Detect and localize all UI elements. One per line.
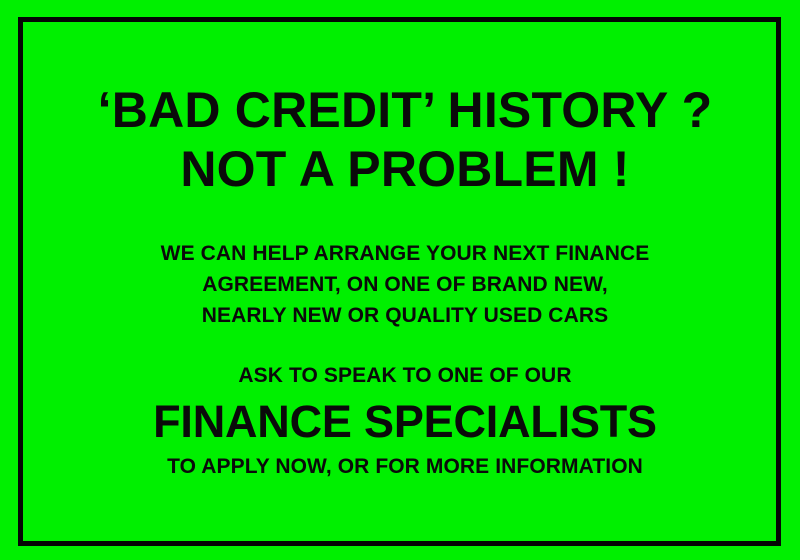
poster-content: ‘BAD CREDIT’ HISTORY ? NOT A PROBLEM ! W… bbox=[0, 0, 800, 560]
body-line-1: WE CAN HELP ARRANGE YOUR NEXT FINANCE bbox=[45, 238, 765, 269]
cta-block: ASK TO SPEAK TO ONE OF OUR FINANCE SPECI… bbox=[40, 361, 760, 482]
body-line-2: AGREEMENT, ON ONE OF BRAND NEW, bbox=[45, 269, 765, 300]
headline-line-2: NOT A PROBLEM ! bbox=[45, 141, 765, 198]
body-paragraph: WE CAN HELP ARRANGE YOUR NEXT FINANCE AG… bbox=[40, 238, 760, 331]
poster: ‘BAD CREDIT’ HISTORY ? NOT A PROBLEM ! W… bbox=[0, 0, 800, 560]
headline-line-1: ‘BAD CREDIT’ HISTORY ? bbox=[45, 82, 765, 139]
cta-tail-line: TO APPLY NOW, OR FOR MORE INFORMATION bbox=[45, 452, 765, 482]
cta-lead-line: ASK TO SPEAK TO ONE OF OUR bbox=[45, 361, 765, 391]
body-line-3: NEARLY NEW OR QUALITY USED CARS bbox=[45, 300, 765, 331]
headline-block: ‘BAD CREDIT’ HISTORY ? NOT A PROBLEM ! bbox=[40, 82, 760, 198]
cta-headline: FINANCE SPECIALISTS bbox=[45, 395, 765, 449]
